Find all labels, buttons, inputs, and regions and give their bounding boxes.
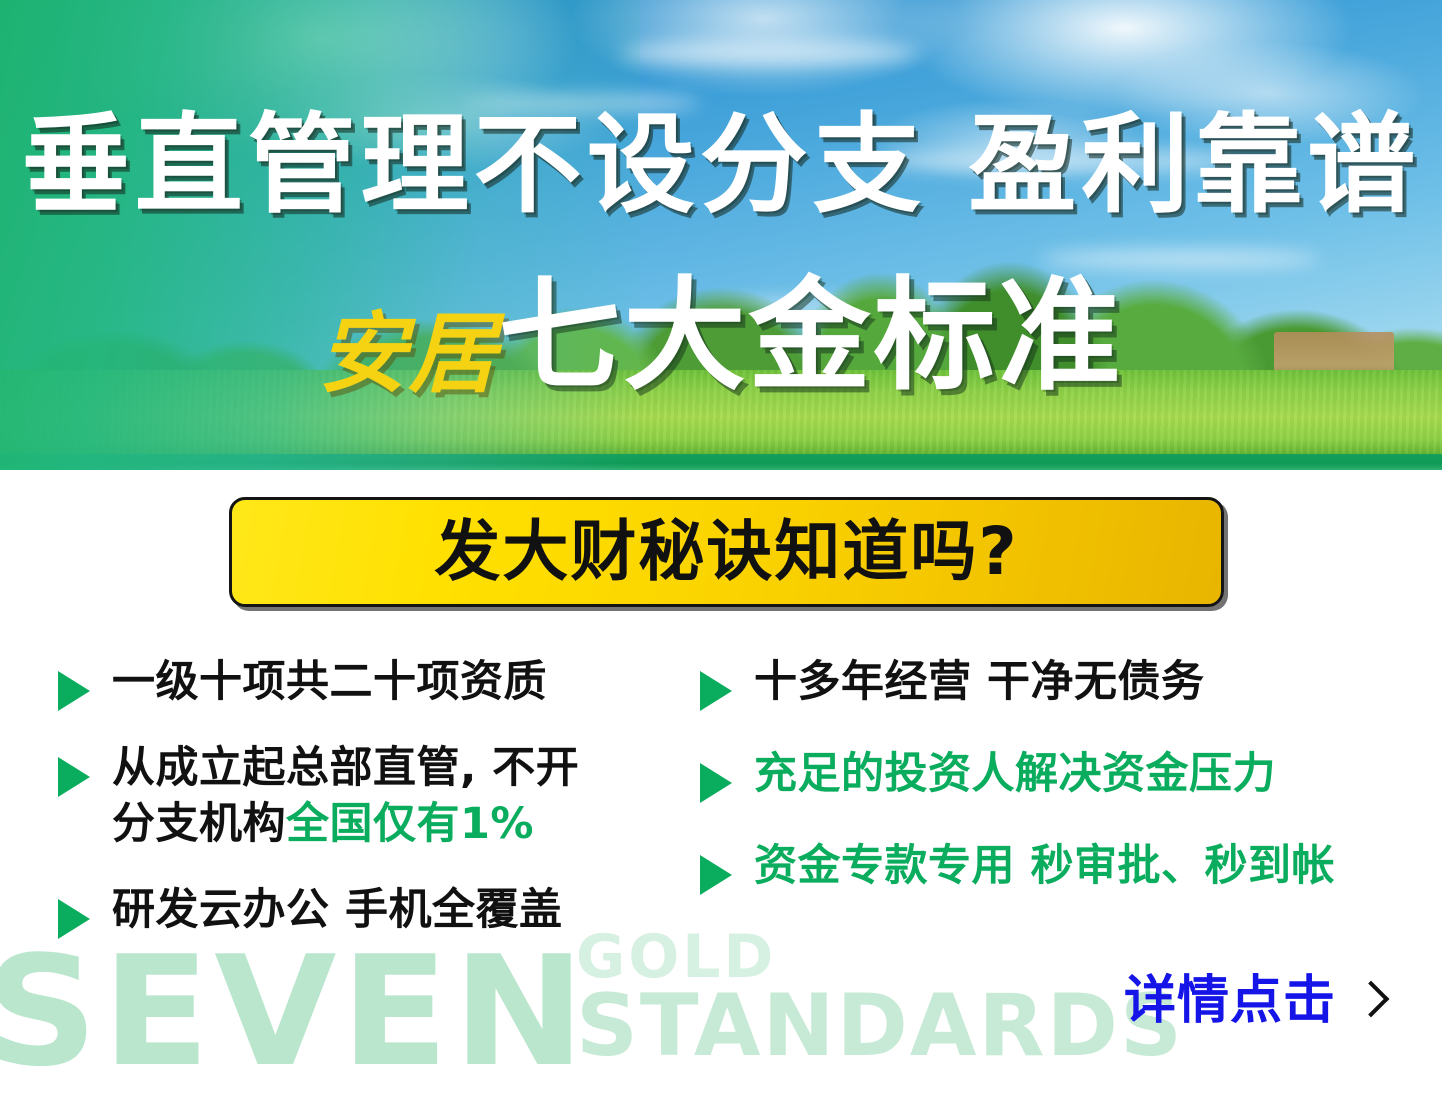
detail-link-label: 详情点击 bbox=[1124, 975, 1336, 1027]
feature-text: 十多年经营 干净无债务 bbox=[754, 655, 1204, 711]
detail-link[interactable]: 详情点击 bbox=[1124, 975, 1384, 1027]
cta-banner-label: 发大财秘诀知道吗? bbox=[434, 519, 1018, 585]
hero-brand-label: 安居 bbox=[318, 301, 498, 405]
feature-line: 一级十项共二十项资质 bbox=[112, 657, 547, 707]
feature-list: 一级十项共二十项资质 从成立起总部直管, 不开 分支机构全国仅有1% 研发云办公… bbox=[0, 655, 1442, 985]
feature-text: 一级十项共二十项资质 bbox=[112, 655, 547, 711]
triangle-right-icon bbox=[700, 855, 732, 895]
cta-banner-button[interactable]: 发大财秘诀知道吗? bbox=[229, 497, 1224, 607]
list-item: 充足的投资人解决资金压力 bbox=[700, 747, 1400, 803]
feature-column-left: 一级十项共二十项资质 从成立起总部直管, 不开 分支机构全国仅有1% 研发云办公… bbox=[58, 655, 688, 969]
list-item: 从成立起总部直管, 不开 分支机构全国仅有1% bbox=[58, 741, 688, 853]
hero-headline-secondary: 安居七大金标准 bbox=[0, 275, 1442, 397]
feature-text: 研发云办公 手机全覆盖 bbox=[112, 883, 562, 939]
feature-text: 从成立起总部直管, 不开 分支机构全国仅有1% bbox=[112, 741, 579, 853]
triangle-right-icon bbox=[58, 671, 90, 711]
list-item: 研发云办公 手机全覆盖 bbox=[58, 883, 688, 939]
hero-headline-primary: 垂直管理不设分支 盈利靠谱 bbox=[0, 112, 1442, 220]
watermark-standards-label: STANDARDS bbox=[576, 986, 1184, 1068]
feature-text: 资金专款专用 秒审批、秒到帐 bbox=[754, 839, 1335, 895]
feature-line: 从成立起总部直管, 不开 bbox=[112, 743, 579, 793]
feature-line: 分支机构 bbox=[112, 799, 286, 849]
triangle-right-icon bbox=[700, 763, 732, 803]
feature-line: 充足的投资人解决资金压力 bbox=[754, 749, 1276, 799]
feature-line: 研发云办公 手机全覆盖 bbox=[112, 885, 562, 935]
feature-line: 资金专款专用 秒审批、秒到帐 bbox=[754, 841, 1335, 891]
list-item: 十多年经营 干净无债务 bbox=[700, 655, 1400, 711]
triangle-right-icon bbox=[700, 671, 732, 711]
list-item: 资金专款专用 秒审批、秒到帐 bbox=[700, 839, 1400, 895]
hero-headline-main: 七大金标准 bbox=[499, 265, 1124, 407]
feature-line: 十多年经营 干净无债务 bbox=[754, 657, 1204, 707]
feature-text: 充足的投资人解决资金压力 bbox=[754, 747, 1276, 803]
cloud-streak-icon bbox=[620, 40, 920, 66]
hero-banner: 垂直管理不设分支 盈利靠谱 安居七大金标准 bbox=[0, 0, 1442, 470]
feature-highlight: 全国仅有1% bbox=[286, 799, 534, 849]
list-item: 一级十项共二十项资质 bbox=[58, 655, 688, 711]
feature-column-right: 十多年经营 干净无债务 充足的投资人解决资金压力 资金专款专用 秒审批、秒到帐 bbox=[700, 655, 1400, 931]
triangle-right-icon bbox=[58, 757, 90, 797]
triangle-right-icon bbox=[58, 899, 90, 939]
chevron-right-icon bbox=[1353, 981, 1390, 1018]
